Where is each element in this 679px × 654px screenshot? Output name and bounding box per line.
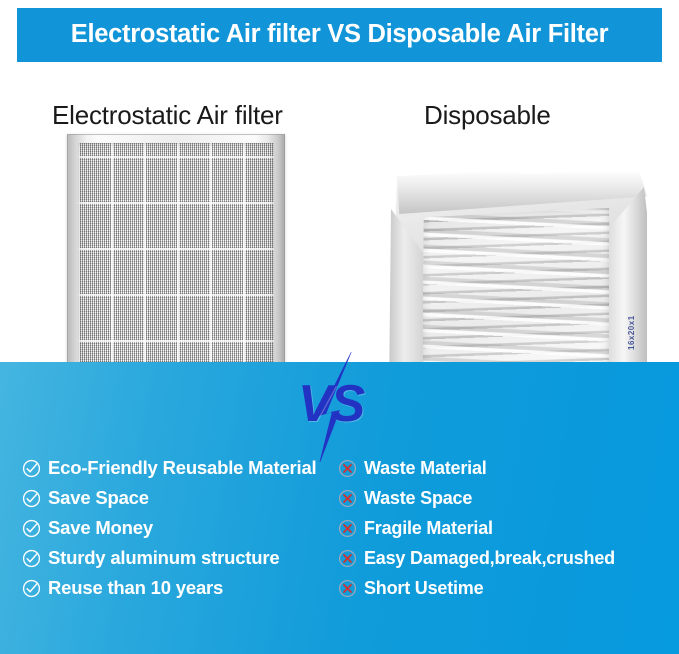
check-circle-icon xyxy=(22,519,41,538)
list-item-label: Eco-Friendly Reusable Material xyxy=(48,457,317,479)
filter-size-label: 16x20x1 xyxy=(627,266,639,350)
title-banner: Electrostatic Air filter VS Disposable A… xyxy=(17,8,662,62)
check-circle-icon xyxy=(22,459,41,478)
check-circle-icon xyxy=(22,579,41,598)
list-item-label: Fragile Material xyxy=(364,518,493,539)
list-item: Short Usetime xyxy=(338,573,668,603)
page-title: Electrostatic Air filter VS Disposable A… xyxy=(71,22,609,48)
x-circle-icon xyxy=(338,579,357,598)
list-item: Save Space xyxy=(22,483,342,513)
x-circle-icon xyxy=(338,489,357,508)
check-circle-icon xyxy=(22,489,41,508)
list-item-label: Waste Space xyxy=(364,488,472,509)
list-item-label: Short Usetime xyxy=(364,578,483,599)
list-item-label: Save Money xyxy=(48,517,153,539)
list-item-label: Save Space xyxy=(48,487,149,509)
x-circle-icon xyxy=(338,459,357,478)
cons-list: Waste Material Waste Space Fragile Mater… xyxy=(338,453,668,603)
list-item: Eco-Friendly Reusable Material xyxy=(22,453,342,483)
heading-disposable: Disposable xyxy=(424,100,551,131)
list-item: Waste Space xyxy=(338,483,668,513)
list-item: Reuse than 10 years xyxy=(22,573,342,603)
list-item-label: Easy Damaged,break,crushed xyxy=(364,548,615,569)
list-item: Save Money xyxy=(22,513,342,543)
list-item-label: Sturdy aluminum structure xyxy=(48,547,279,569)
x-circle-icon xyxy=(338,549,357,568)
vs-badge: VS xyxy=(292,352,388,462)
pros-list: Eco-Friendly Reusable Material Save Spac… xyxy=(22,453,342,603)
heading-electrostatic: Electrostatic Air filter xyxy=(52,100,283,131)
list-item: Easy Damaged,break,crushed xyxy=(338,543,668,573)
list-item-label: Waste Material xyxy=(364,458,487,479)
vs-label: VS xyxy=(298,378,394,430)
list-item: Fragile Material xyxy=(338,513,668,543)
check-circle-icon xyxy=(22,549,41,568)
list-item: Waste Material xyxy=(338,453,668,483)
x-circle-icon xyxy=(338,519,357,538)
list-item-label: Reuse than 10 years xyxy=(48,577,223,599)
list-item: Sturdy aluminum structure xyxy=(22,543,342,573)
